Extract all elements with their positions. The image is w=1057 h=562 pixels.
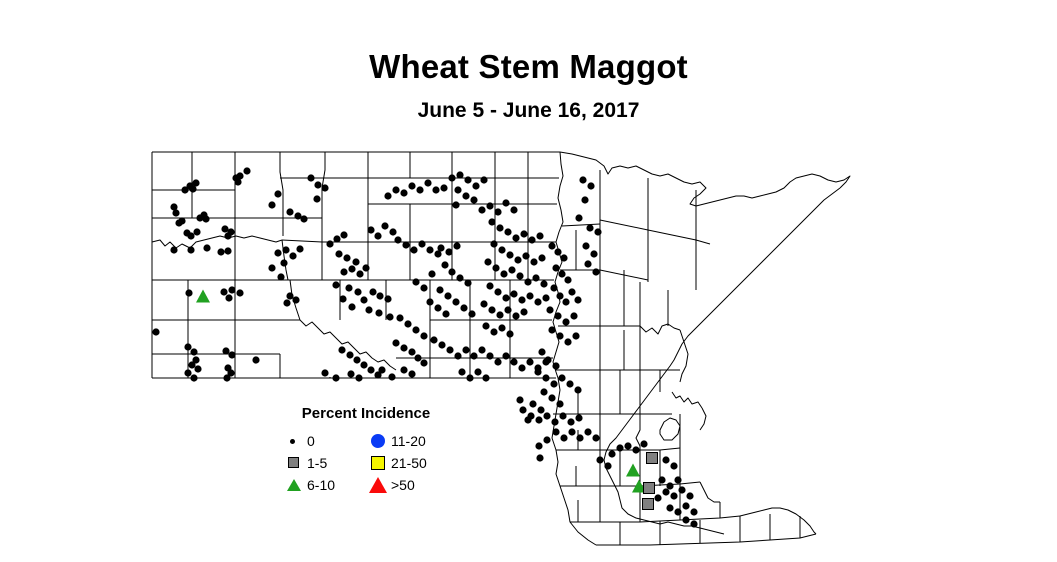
- point-marker-dot: [456, 274, 463, 281]
- legend-label-3: 11-20: [391, 432, 426, 450]
- point-marker-square: [643, 499, 654, 510]
- point-marker-dot: [274, 190, 281, 197]
- point-marker-dot: [313, 195, 320, 202]
- point-marker-dot: [438, 341, 445, 348]
- point-marker-triangle: [196, 290, 210, 303]
- point-marker-dot: [338, 346, 345, 353]
- point-marker-dot: [448, 268, 455, 275]
- point-marker-dot: [556, 332, 563, 339]
- point-marker-dot: [224, 247, 231, 254]
- point-marker-dot: [355, 374, 362, 381]
- point-marker-dot: [300, 215, 307, 222]
- point-marker-dot: [307, 174, 314, 181]
- point-marker-dot: [381, 222, 388, 229]
- point-marker-dot: [492, 264, 499, 271]
- point-marker-dot: [568, 428, 575, 435]
- point-marker-dot: [586, 224, 593, 231]
- point-marker-dot: [348, 265, 355, 272]
- point-marker-dot: [394, 236, 401, 243]
- point-marker-dot: [420, 332, 427, 339]
- point-marker-dot: [592, 434, 599, 441]
- point-marker-dot: [504, 228, 511, 235]
- point-marker-dot: [484, 258, 491, 265]
- point-marker-dot: [670, 492, 677, 499]
- point-marker-dot: [498, 324, 505, 331]
- point-marker-dot: [554, 248, 561, 255]
- point-marker-dot: [560, 434, 567, 441]
- point-marker-dot: [548, 326, 555, 333]
- point-marker-dot: [546, 306, 553, 313]
- blue-circle-icon: [369, 431, 389, 451]
- point-marker-dot: [548, 242, 555, 249]
- point-marker-dot: [408, 348, 415, 355]
- point-marker-dot: [572, 332, 579, 339]
- point-marker-dot: [345, 284, 352, 291]
- point-marker-dot: [540, 280, 547, 287]
- point-marker-dot: [426, 246, 433, 253]
- point-marker-dot: [196, 214, 203, 221]
- point-marker-dot: [670, 462, 677, 469]
- point-marker-dot: [666, 504, 673, 511]
- point-marker-square: [644, 483, 655, 494]
- point-marker-dot: [478, 206, 485, 213]
- point-marker-dot: [365, 306, 372, 313]
- point-marker-dot: [678, 486, 685, 493]
- point-marker-dot: [456, 171, 463, 178]
- point-marker-dot: [346, 351, 353, 358]
- point-marker-dot: [321, 369, 328, 376]
- point-marker-dot: [172, 209, 179, 216]
- point-marker-dot: [217, 248, 224, 255]
- point-marker-dot: [590, 250, 597, 257]
- point-marker-dot: [462, 346, 469, 353]
- point-marker-dot: [500, 270, 507, 277]
- point-marker-dot: [522, 252, 529, 259]
- point-marker-dot: [538, 254, 545, 261]
- legend-label-2: 6-10: [307, 476, 335, 494]
- point-marker-dot: [498, 246, 505, 253]
- point-marker-dot: [434, 304, 441, 311]
- point-marker-dot: [384, 295, 391, 302]
- point-marker-dot: [550, 380, 557, 387]
- point-marker-dot: [410, 246, 417, 253]
- point-marker-dot: [502, 352, 509, 359]
- point-marker-dot: [444, 292, 451, 299]
- point-marker-dot: [187, 246, 194, 253]
- point-marker-dot: [494, 358, 501, 365]
- point-marker-dot: [274, 249, 281, 256]
- point-marker-dot: [576, 434, 583, 441]
- point-marker-dot: [408, 182, 415, 189]
- point-marker-dot: [452, 298, 459, 305]
- point-marker-dot: [579, 176, 586, 183]
- page-subtitle: June 5 - June 16, 2017: [0, 100, 1057, 121]
- point-marker-dot: [378, 366, 385, 373]
- point-marker-dot: [412, 278, 419, 285]
- point-marker-dot: [420, 284, 427, 291]
- point-marker-dot: [478, 346, 485, 353]
- point-marker-dot: [624, 442, 631, 449]
- point-marker-dot: [400, 189, 407, 196]
- point-marker-dot: [548, 394, 555, 401]
- point-marker-dot: [220, 288, 227, 295]
- point-marker-dot: [544, 356, 551, 363]
- point-marker-dot: [321, 184, 328, 191]
- point-marker-dot: [543, 412, 550, 419]
- point-marker-dot: [562, 318, 569, 325]
- point-marker-dot: [566, 380, 573, 387]
- point-marker-dot: [442, 310, 449, 317]
- point-marker-dot: [400, 366, 407, 373]
- point-marker-dot: [367, 226, 374, 233]
- point-marker-dot: [243, 167, 250, 174]
- point-marker-dot: [519, 406, 526, 413]
- point-marker-dot: [490, 328, 497, 335]
- point-marker-dot: [540, 388, 547, 395]
- legend-label-5: >50: [391, 476, 415, 494]
- point-marker-dot: [178, 217, 185, 224]
- red-triangle-icon: [369, 475, 389, 495]
- point-marker-dot: [416, 186, 423, 193]
- point-marker-dot: [516, 396, 523, 403]
- point-marker-dot: [506, 251, 513, 258]
- point-marker-dot: [584, 428, 591, 435]
- legend-title: Percent Incidence: [281, 405, 451, 422]
- point-marker-dot: [662, 456, 669, 463]
- point-marker-dot: [488, 306, 495, 313]
- point-marker-dot: [374, 232, 381, 239]
- point-marker-dot: [654, 494, 661, 501]
- point-marker-dot: [326, 240, 333, 247]
- point-marker-dot: [386, 313, 393, 320]
- point-marker-dot: [225, 294, 232, 301]
- point-marker-dot: [432, 186, 439, 193]
- map-canvas: [0, 130, 1057, 555]
- point-marker-dot: [674, 508, 681, 515]
- point-marker-dot: [551, 418, 558, 425]
- point-marker-dot: [556, 292, 563, 299]
- point-marker-dot: [594, 228, 601, 235]
- point-marker-dot: [528, 236, 535, 243]
- point-marker-dot: [424, 179, 431, 186]
- point-marker-dot: [430, 336, 437, 343]
- point-marker-dot: [332, 281, 339, 288]
- point-marker-dot: [448, 174, 455, 181]
- point-marker-dot: [340, 268, 347, 275]
- point-marker-dot: [662, 488, 669, 495]
- point-marker-dot: [510, 206, 517, 213]
- point-marker-dot: [360, 361, 367, 368]
- legend-label-1: 1-5: [307, 454, 327, 472]
- point-marker-dot: [575, 414, 582, 421]
- page-title: Wheat Stem Maggot: [0, 50, 1057, 83]
- point-marker-dot: [512, 312, 519, 319]
- point-marker-dot: [402, 241, 409, 248]
- point-marker-dot: [428, 270, 435, 277]
- point-marker-dot: [574, 386, 581, 393]
- point-marker-dot: [202, 215, 209, 222]
- map-svg: [0, 130, 1057, 555]
- point-marker-dot: [236, 289, 243, 296]
- point-marker-dot: [550, 284, 557, 291]
- point-marker-dot: [452, 201, 459, 208]
- legend-label-4: 21-50: [391, 454, 427, 472]
- point-marker-dot: [518, 296, 525, 303]
- point-marker-dot: [494, 208, 501, 215]
- point-marker-dot: [632, 446, 639, 453]
- point-marker-dot: [194, 365, 201, 372]
- point-marker-dot: [568, 288, 575, 295]
- point-marker-dot: [567, 418, 574, 425]
- yellow-square-icon: [369, 453, 389, 473]
- point-marker-dot: [536, 454, 543, 461]
- point-marker-dot: [486, 202, 493, 209]
- point-marker-dot: [518, 364, 525, 371]
- point-marker-dot: [587, 182, 594, 189]
- point-marker-dot: [184, 343, 191, 350]
- point-marker-dot: [464, 279, 471, 286]
- point-marker-dot: [464, 176, 471, 183]
- point-marker-dot: [560, 254, 567, 261]
- point-marker-dot: [446, 346, 453, 353]
- point-marker-dot: [520, 308, 527, 315]
- point-marker-dot: [480, 176, 487, 183]
- point-marker-dot: [388, 373, 395, 380]
- point-marker-dot: [190, 348, 197, 355]
- point-marker-dot: [426, 298, 433, 305]
- point-marker-dot: [412, 326, 419, 333]
- point-marker-dot: [474, 368, 481, 375]
- point-marker-dot: [538, 348, 545, 355]
- point-marker-dot: [348, 303, 355, 310]
- point-marker-dot: [453, 242, 460, 249]
- point-marker-dot: [314, 181, 321, 188]
- legend-label-0: 0: [307, 432, 315, 450]
- point-marker-dot: [408, 370, 415, 377]
- point-marker-dot: [514, 256, 521, 263]
- small-dot-icon: [285, 431, 305, 451]
- point-marker-dot: [384, 192, 391, 199]
- point-marker-dot: [441, 261, 448, 268]
- point-marker-dot: [604, 462, 611, 469]
- point-marker-dot: [534, 298, 541, 305]
- point-marker-dot: [356, 270, 363, 277]
- point-marker-dot: [554, 312, 561, 319]
- point-marker-dot: [564, 276, 571, 283]
- point-marker-dot: [510, 290, 517, 297]
- point-marker-dot: [535, 416, 542, 423]
- point-marker-dot: [392, 186, 399, 193]
- point-marker-dot: [458, 368, 465, 375]
- point-marker-dot: [508, 266, 515, 273]
- point-marker-dot: [332, 374, 339, 381]
- point-marker-dot: [552, 428, 559, 435]
- point-marker-dot: [502, 294, 509, 301]
- point-marker-dot: [400, 344, 407, 351]
- point-marker-dot: [414, 354, 421, 361]
- point-marker-dot: [268, 201, 275, 208]
- point-marker-dot: [190, 374, 197, 381]
- point-marker-dot: [472, 182, 479, 189]
- point-marker-dot: [592, 268, 599, 275]
- point-marker-dot: [529, 400, 536, 407]
- point-marker-dot: [280, 259, 287, 266]
- point-marker-dot: [535, 442, 542, 449]
- point-marker-dot: [252, 356, 259, 363]
- point-marker-dot: [268, 264, 275, 271]
- point-marker-dot: [658, 476, 665, 483]
- point-marker-dot: [674, 476, 681, 483]
- point-marker-dot: [375, 309, 382, 316]
- point-marker-dot: [552, 264, 559, 271]
- point-marker-dot: [404, 320, 411, 327]
- point-marker-dot: [482, 374, 489, 381]
- point-marker-square: [647, 453, 658, 464]
- point-marker-dot: [181, 186, 188, 193]
- point-marker-dot: [282, 246, 289, 253]
- point-marker-dot: [436, 286, 443, 293]
- point-marker-dot: [193, 228, 200, 235]
- point-marker-dot: [526, 292, 533, 299]
- point-marker-dot: [686, 492, 693, 499]
- point-marker-dot: [445, 248, 452, 255]
- point-marker-dot: [360, 296, 367, 303]
- point-marker-dot: [376, 292, 383, 299]
- point-marker-dot: [524, 278, 531, 285]
- point-marker-dot: [690, 520, 697, 527]
- point-marker-dot: [482, 322, 489, 329]
- point-marker-dot: [510, 358, 517, 365]
- point-marker-dot: [292, 296, 299, 303]
- point-marker-dot: [534, 368, 541, 375]
- point-marker-dot: [490, 240, 497, 247]
- point-marker-dot: [682, 516, 689, 523]
- point-marker-dot: [488, 218, 495, 225]
- point-marker-dot: [575, 214, 582, 221]
- point-marker-dot: [296, 245, 303, 252]
- point-marker-dot: [486, 282, 493, 289]
- point-marker-dot: [286, 208, 293, 215]
- point-marker-dot: [454, 352, 461, 359]
- point-marker-dot: [564, 338, 571, 345]
- point-marker-dot: [532, 274, 539, 281]
- point-marker-dot: [420, 359, 427, 366]
- point-marker-dot: [396, 314, 403, 321]
- point-marker-dot: [530, 258, 537, 265]
- point-marker-dot: [536, 232, 543, 239]
- point-marker-dot: [494, 288, 501, 295]
- point-marker-dot: [666, 482, 673, 489]
- point-marker-dot: [558, 270, 565, 277]
- point-marker-dot: [389, 228, 396, 235]
- point-marker-dot: [512, 234, 519, 241]
- point-marker-dot: [354, 288, 361, 295]
- point-marker-dot: [596, 456, 603, 463]
- point-marker-dot: [289, 252, 296, 259]
- point-marker-dot: [543, 436, 550, 443]
- point-marker-dot: [608, 450, 615, 457]
- point-marker-dot: [454, 186, 461, 193]
- point-marker-dot: [496, 224, 503, 231]
- point-marker-dot: [542, 374, 549, 381]
- point-marker-dot: [559, 412, 566, 419]
- point-marker-dot: [502, 199, 509, 206]
- point-marker-dot: [460, 304, 467, 311]
- point-marker-dot: [462, 192, 469, 199]
- point-marker-dot: [574, 296, 581, 303]
- point-marker-dot: [562, 298, 569, 305]
- point-marker-dot: [470, 352, 477, 359]
- point-marker-dot: [277, 273, 284, 280]
- point-marker-dot: [496, 311, 503, 318]
- point-marker-dot: [506, 330, 513, 337]
- point-marker-dot: [367, 366, 374, 373]
- point-marker-dot: [542, 294, 549, 301]
- point-marker-dot: [537, 406, 544, 413]
- point-marker-dot: [486, 352, 493, 359]
- point-marker-dot: [524, 416, 531, 423]
- point-marker-dot: [556, 400, 563, 407]
- point-marker-dot: [347, 370, 354, 377]
- point-marker-dot: [184, 369, 191, 376]
- point-marker-dot: [203, 244, 210, 251]
- point-marker-dot: [640, 440, 647, 447]
- point-marker-dot: [570, 312, 577, 319]
- point-marker-dot: [286, 292, 293, 299]
- map-figure: Wheat Stem Maggot June 5 - June 16, 2017: [0, 0, 1057, 562]
- point-marker-dot: [480, 300, 487, 307]
- point-marker-dot: [504, 306, 511, 313]
- point-marker-dot: [224, 232, 231, 239]
- point-marker-dot: [582, 242, 589, 249]
- point-marker-dot: [616, 444, 623, 451]
- point-marker-dot: [526, 358, 533, 365]
- point-marker-dot: [228, 286, 235, 293]
- point-marker-dot: [339, 295, 346, 302]
- point-marker-dot: [222, 347, 229, 354]
- point-marker-triangle: [626, 464, 640, 477]
- point-marker-dot: [189, 185, 196, 192]
- point-marker-dot: [520, 230, 527, 237]
- point-marker-dot: [470, 196, 477, 203]
- point-marker-dot: [690, 508, 697, 515]
- point-marker-dot: [223, 374, 230, 381]
- point-marker-dot: [516, 272, 523, 279]
- point-marker-dot: [183, 229, 190, 236]
- green-triangle-icon: [285, 475, 305, 495]
- point-marker-dot: [584, 260, 591, 267]
- point-marker-dot: [333, 235, 340, 242]
- point-marker-dot: [340, 231, 347, 238]
- point-marker-dot: [335, 250, 342, 257]
- point-marker-dot: [170, 246, 177, 253]
- point-marker-dot: [185, 289, 192, 296]
- point-marker-dot: [552, 362, 559, 369]
- point-marker-dot: [418, 240, 425, 247]
- point-marker-dot: [343, 254, 350, 261]
- point-marker-dot: [682, 502, 689, 509]
- point-marker-dot: [581, 196, 588, 203]
- point-marker-dot: [152, 328, 159, 335]
- point-marker-dot: [369, 288, 376, 295]
- legend: Percent Incidence 0 1-5 6-10 11-20 21-50…: [281, 405, 451, 503]
- point-marker-dot: [362, 264, 369, 271]
- point-marker-dot: [437, 244, 444, 251]
- point-marker-dot: [466, 374, 473, 381]
- point-marker-dot: [228, 351, 235, 358]
- point-marker-dot: [440, 184, 447, 191]
- point-marker-dot: [234, 178, 241, 185]
